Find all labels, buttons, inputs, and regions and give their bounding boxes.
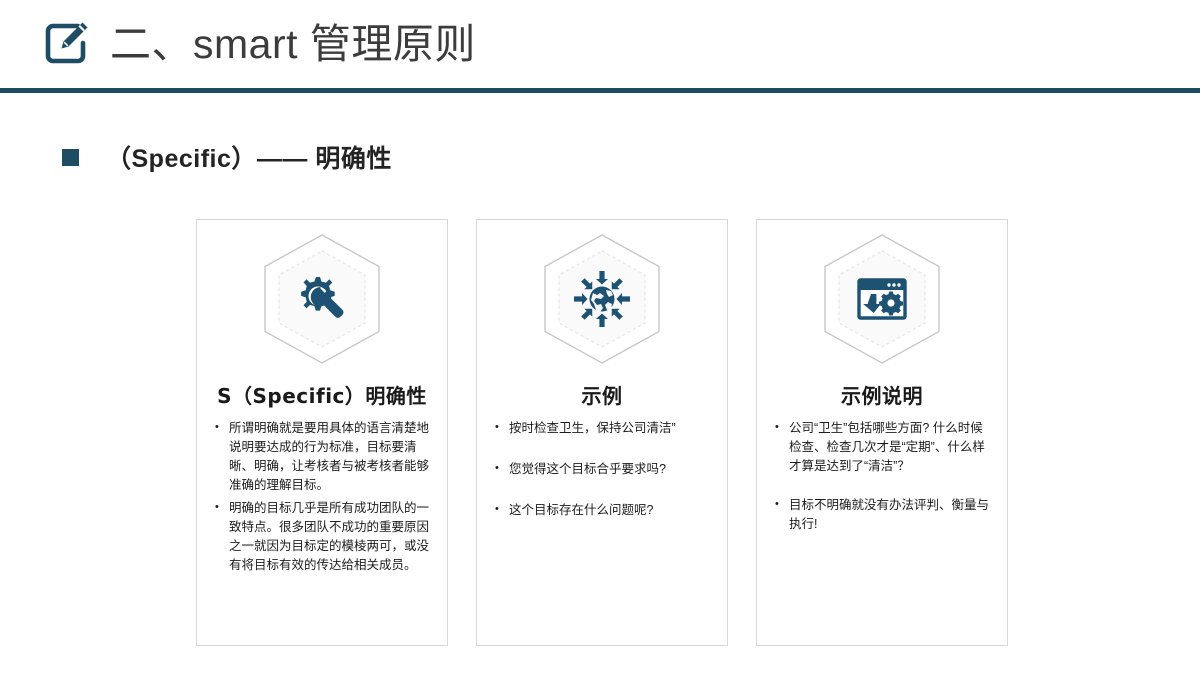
section-subtitle: （Specific）—— 明确性 xyxy=(62,139,392,175)
gear-wrench-icon xyxy=(260,232,384,366)
card-bullet-list: 公司“卫生”包括哪些方面? 什么时候检查、检查几次才是“定期”、什么样才算是达到… xyxy=(757,419,1007,534)
card-example[interactable]: 示例 按时检查卫生，保持公司清洁” 您觉得这个目标合乎要求吗? 这个目标存在什么… xyxy=(476,219,728,646)
header-divider xyxy=(0,88,1200,93)
card-specific[interactable]: S（Specific）明确性 所谓明确就是要用具体的语言清楚地说明要达成的行为标… xyxy=(196,219,448,646)
list-item: 目标不明确就没有办法评判、衡量与执行! xyxy=(773,496,993,534)
list-item: 您觉得这个目标合乎要求吗? xyxy=(493,460,713,479)
subtitle-label: （Specific）—— 明确性 xyxy=(106,139,392,175)
card-title: S（Specific）明确性 xyxy=(197,380,447,409)
list-item: 按时检查卫生，保持公司清洁” xyxy=(493,419,713,438)
page-title: 二、smart 管理原则 xyxy=(110,24,476,65)
subtitle-bullet-icon xyxy=(62,149,79,166)
card-icon-container xyxy=(757,220,1007,370)
card-title: 示例 xyxy=(477,380,727,409)
edit-pencil-square-icon xyxy=(40,17,94,71)
page-header: 二、smart 管理原则 xyxy=(0,0,1200,93)
list-item: 明确的目标几乎是所有成功团队的一致特点。很多团队不成功的重要原因之一就因为目标定… xyxy=(213,499,433,575)
globe-arrows-icon xyxy=(540,232,664,366)
card-title: 示例说明 xyxy=(757,380,1007,409)
list-item: 所谓明确就是要用具体的语言清楚地说明要达成的行为标准，目标要清晰、明确，让考核者… xyxy=(213,419,433,495)
card-icon-container xyxy=(197,220,447,370)
list-item: 公司“卫生”包括哪些方面? 什么时候检查、检查几次才是“定期”、什么样才算是达到… xyxy=(773,419,993,476)
header-content: 二、smart 管理原则 xyxy=(0,0,1200,88)
card-example-explanation[interactable]: 示例说明 公司“卫生”包括哪些方面? 什么时候检查、检查几次才是“定期”、什么样… xyxy=(756,219,1008,646)
card-bullet-list: 按时检查卫生，保持公司清洁” 您觉得这个目标合乎要求吗? 这个目标存在什么问题呢… xyxy=(477,419,727,520)
card-bullet-list: 所谓明确就是要用具体的语言清楚地说明要达成的行为标准，目标要清晰、明确，让考核者… xyxy=(197,419,447,575)
card-row: S（Specific）明确性 所谓明确就是要用具体的语言清楚地说明要达成的行为标… xyxy=(196,219,1008,646)
list-item: 这个目标存在什么问题呢? xyxy=(493,501,713,520)
browser-download-gear-icon xyxy=(820,232,944,366)
card-icon-container xyxy=(477,220,727,370)
